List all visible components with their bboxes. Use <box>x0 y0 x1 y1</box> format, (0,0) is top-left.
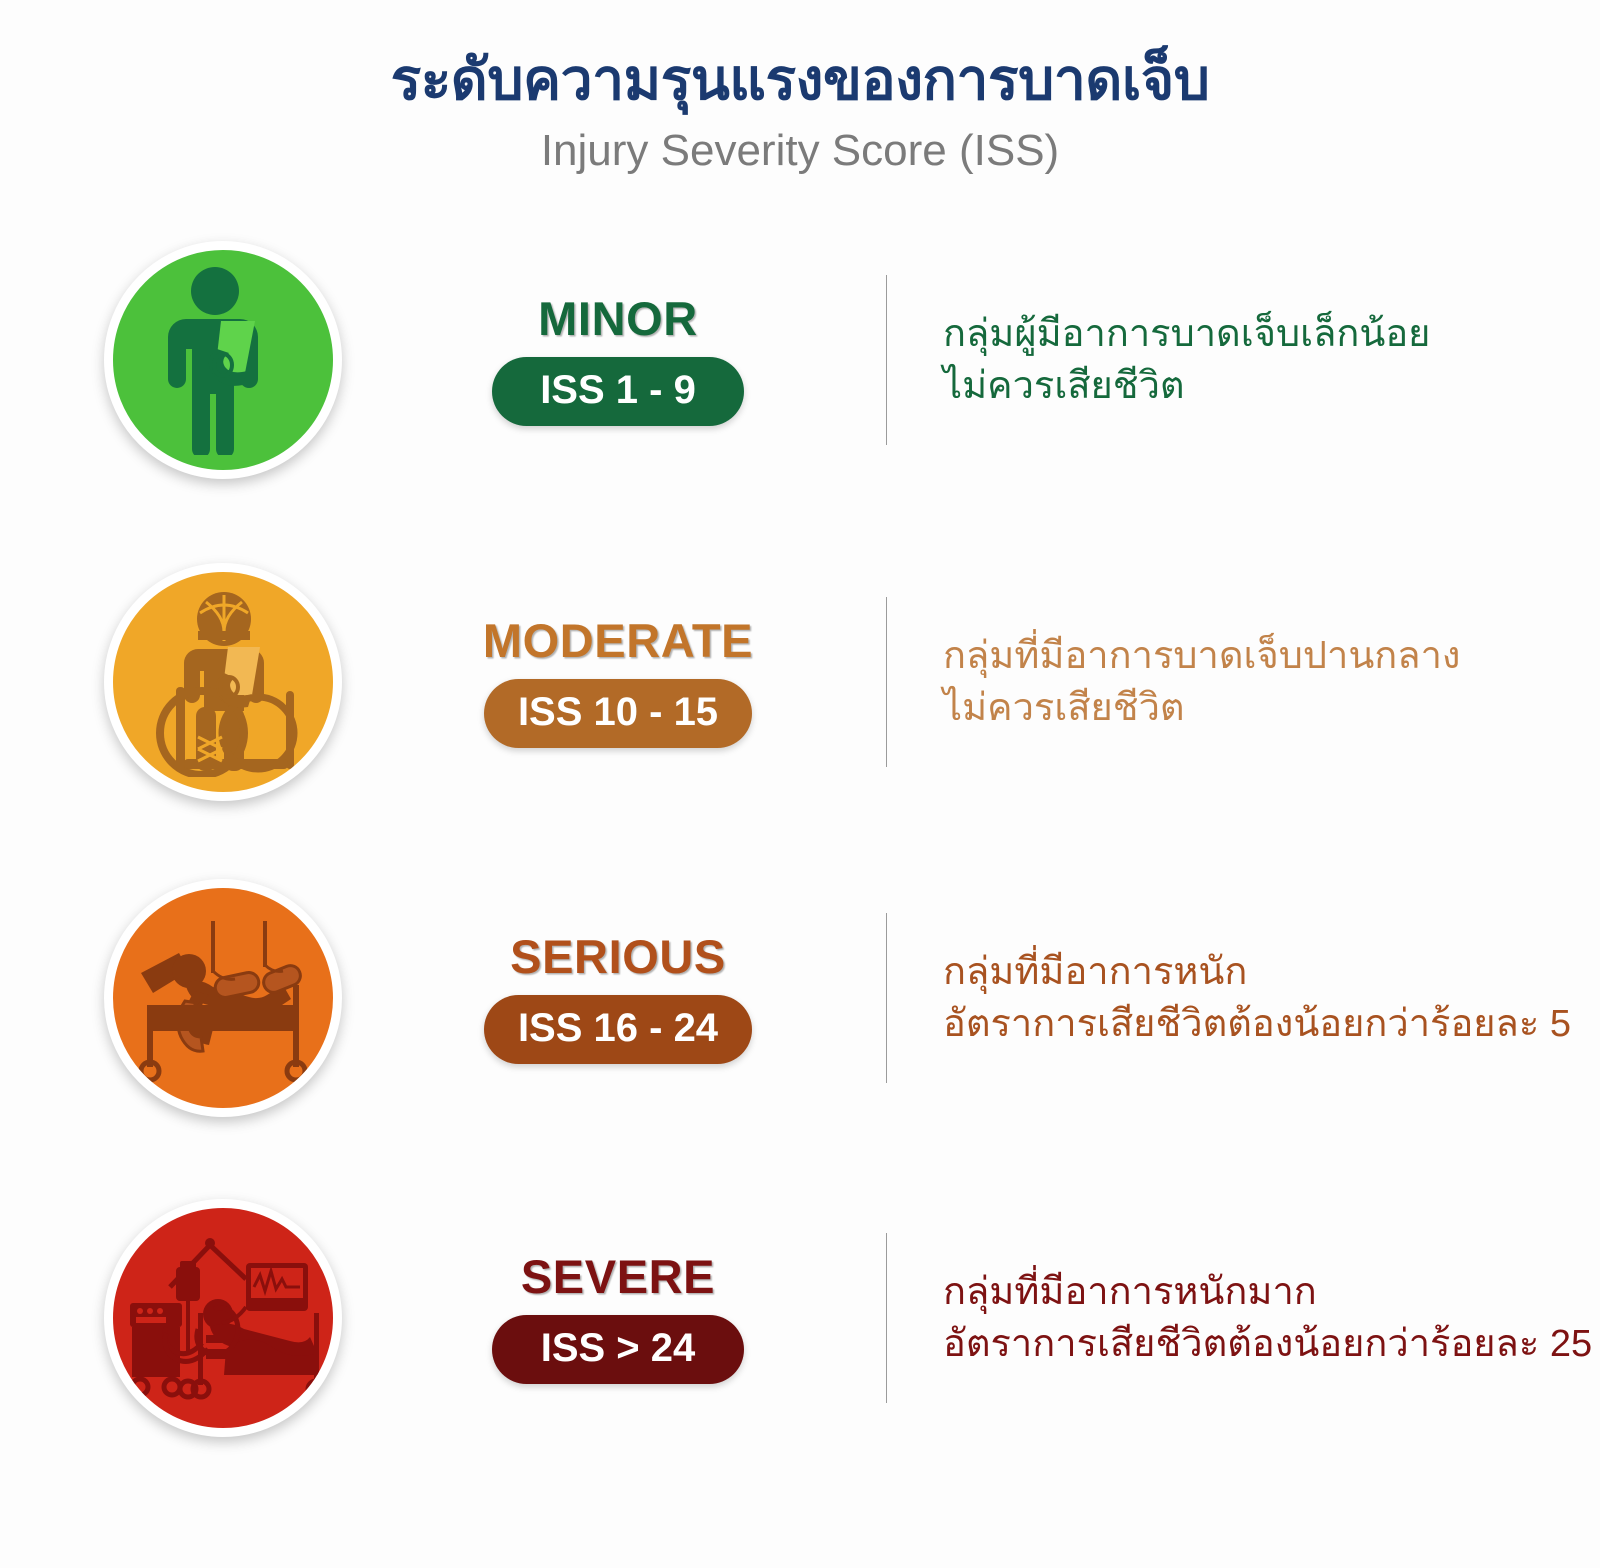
description-line-2: อัตราการเสียชีวิตต้องน้อยกว่าร้อยละ 5 <box>943 999 1571 1049</box>
icu-patient-monitor-icon <box>118 1231 328 1406</box>
category-name-serious: SERIOUS <box>510 932 726 981</box>
severity-row-serious: SERIOUS ISS 16 - 24 กลุ่มที่มีอาการหนัก … <box>0 868 1600 1128</box>
patient-bed-traction-icon <box>123 913 323 1083</box>
severity-row-minor: MINOR ISS 1 - 9 กลุ่มผู้มีอาการบาดเจ็บเล… <box>0 230 1600 490</box>
description-severe: กลุ่มที่มีอาการหนักมาก อัตราการเสียชีวิต… <box>943 1267 1600 1369</box>
row-divider <box>886 1233 887 1403</box>
infographic-page: ระดับความรุนแรงของการบาดเจ็บ Injury Seve… <box>0 0 1600 1568</box>
severity-circle-minor <box>104 241 342 479</box>
severity-circle-severe <box>104 1199 342 1437</box>
category-name-severe: SEVERE <box>521 1252 715 1301</box>
severity-row-severe: SEVERE ISS > 24 กลุ่มที่มีอาการหนักมาก อ… <box>0 1188 1600 1448</box>
severity-circle-serious <box>104 879 342 1117</box>
label-col-serious: SERIOUS ISS 16 - 24 <box>398 932 838 1064</box>
description-moderate: กลุ่มที่มีอาการบาดเจ็บปานกลาง ไม่ควรเสีย… <box>943 631 1600 733</box>
description-line-1: กลุ่มที่มีอาการบาดเจ็บปานกลาง <box>943 631 1560 681</box>
description-line-1: กลุ่มที่มีอาการหนักมาก <box>943 1267 1592 1317</box>
label-col-severe: SEVERE ISS > 24 <box>398 1252 838 1384</box>
iss-badge-severe: ISS > 24 <box>492 1315 744 1384</box>
severity-circle-moderate <box>104 563 342 801</box>
description-minor: กลุ่มผู้มีอาการบาดเจ็บเล็กน้อย ไม่ควรเสี… <box>943 309 1600 411</box>
page-title: ระดับความรุนแรงของการบาดเจ็บ <box>0 46 1600 116</box>
person-arm-sling-icon <box>143 265 303 455</box>
category-name-minor: MINOR <box>538 294 698 343</box>
description-serious: กลุ่มที่มีอาการหนัก อัตราการเสียชีวิตต้อ… <box>943 947 1600 1049</box>
description-line-2: ไม่ควรเสียชีวิต <box>943 683 1560 733</box>
icon-wrap-serious <box>98 879 348 1117</box>
row-divider <box>886 597 887 767</box>
row-divider <box>886 275 887 445</box>
icon-wrap-moderate <box>98 563 348 801</box>
header: ระดับความรุนแรงของการบาดเจ็บ Injury Seve… <box>0 46 1600 179</box>
label-col-minor: MINOR ISS 1 - 9 <box>398 294 838 426</box>
iss-badge-moderate: ISS 10 - 15 <box>484 679 752 748</box>
description-line-1: กลุ่มที่มีอาการหนัก <box>943 947 1571 997</box>
iss-badge-serious: ISS 16 - 24 <box>484 995 752 1064</box>
row-divider <box>886 913 887 1083</box>
person-wheelchair-icon <box>136 587 311 777</box>
icon-wrap-minor <box>98 241 348 479</box>
description-line-2: อัตราการเสียชีวิตต้องน้อยกว่าร้อยละ 25 <box>943 1319 1592 1369</box>
severity-row-moderate: MODERATE ISS 10 - 15 กลุ่มที่มีอาการบาดเ… <box>0 552 1600 812</box>
icon-wrap-severe <box>98 1199 348 1437</box>
category-name-moderate: MODERATE <box>483 616 753 665</box>
label-col-moderate: MODERATE ISS 10 - 15 <box>398 616 838 748</box>
iss-badge-minor: ISS 1 - 9 <box>492 357 744 426</box>
description-line-2: ไม่ควรเสียชีวิต <box>943 361 1560 411</box>
page-subtitle: Injury Severity Score (ISS) <box>0 122 1600 179</box>
description-line-1: กลุ่มผู้มีอาการบาดเจ็บเล็กน้อย <box>943 309 1560 359</box>
